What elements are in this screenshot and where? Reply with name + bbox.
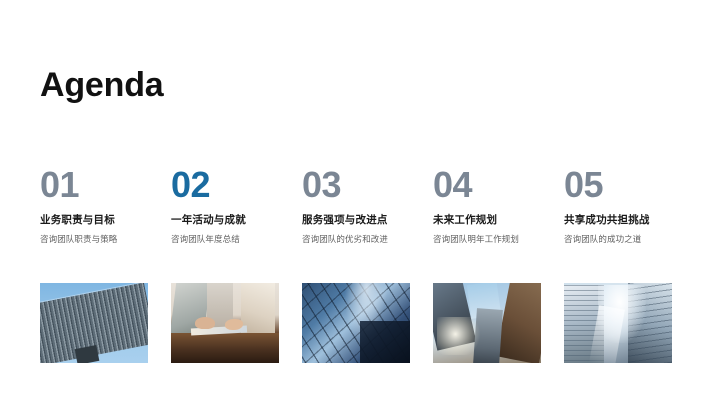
agenda-item-title: 服务强项与改进点 [302, 214, 388, 227]
photo-cell-04 [433, 283, 557, 363]
facade-shadow [75, 345, 100, 363]
slatted-building-facade-photo [40, 283, 148, 363]
agenda-item-subtitle: 咨询团队的成功之道 [564, 233, 672, 245]
agenda-item-05[interactable]: 05 共享成功共担挑战 咨询团队的成功之道 [564, 166, 688, 245]
photo-cell-01 [40, 283, 164, 363]
agenda-item-title: 共享成功共担挑战 [564, 214, 650, 227]
agenda-item-subtitle: 咨询团队年度总结 [171, 233, 279, 245]
agenda-item-03[interactable]: 03 服务强项与改进点 咨询团队的优劣和改进 [302, 166, 426, 245]
presentation-slide: Agenda 01 业务职责与目标 咨询团队职责与策略 02 一年活动与成就 咨… [0, 0, 720, 404]
hand-right [225, 319, 243, 330]
agenda-item-number: 04 [433, 166, 472, 204]
agenda-item-subtitle: 咨询团队明年工作规划 [433, 233, 541, 245]
agenda-items-row: 01 业务职责与目标 咨询团队职责与策略 02 一年活动与成就 咨询团队年度总结… [40, 166, 688, 245]
page-title: Agenda [40, 68, 163, 102]
agenda-item-number: 03 [302, 166, 341, 204]
agenda-item-title: 业务职责与目标 [40, 214, 115, 227]
agenda-item-02[interactable]: 02 一年活动与成就 咨询团队年度总结 [171, 166, 295, 245]
business-meeting-hands-photo [171, 283, 279, 363]
agenda-item-04[interactable]: 04 未来工作规划 咨询团队明年工作规划 [433, 166, 557, 245]
agenda-item-subtitle: 咨询团队的优劣和改进 [302, 233, 410, 245]
agenda-item-title: 一年活动与成就 [171, 214, 246, 227]
agenda-photos-row [40, 283, 688, 363]
tower-right [496, 283, 541, 363]
agenda-item-title: 未来工作规划 [433, 214, 497, 227]
agenda-item-number: 05 [564, 166, 603, 204]
sun-burst [598, 285, 646, 343]
sun-flare [437, 317, 483, 355]
hand-left [195, 317, 215, 329]
agenda-item-number: 01 [40, 166, 79, 204]
tower-shadow-block [360, 321, 410, 363]
desk-surface [171, 333, 279, 363]
photo-cell-03 [302, 283, 426, 363]
skyscrapers-upward-view-photo [433, 283, 541, 363]
sunlit-skyscrapers-photo [564, 283, 672, 363]
photo-cell-02 [171, 283, 295, 363]
agenda-item-subtitle: 咨询团队职责与策略 [40, 233, 148, 245]
blue-glass-tower-photo [302, 283, 410, 363]
photo-cell-05 [564, 283, 688, 363]
agenda-item-number: 02 [171, 166, 210, 204]
agenda-item-01[interactable]: 01 业务职责与目标 咨询团队职责与策略 [40, 166, 164, 245]
